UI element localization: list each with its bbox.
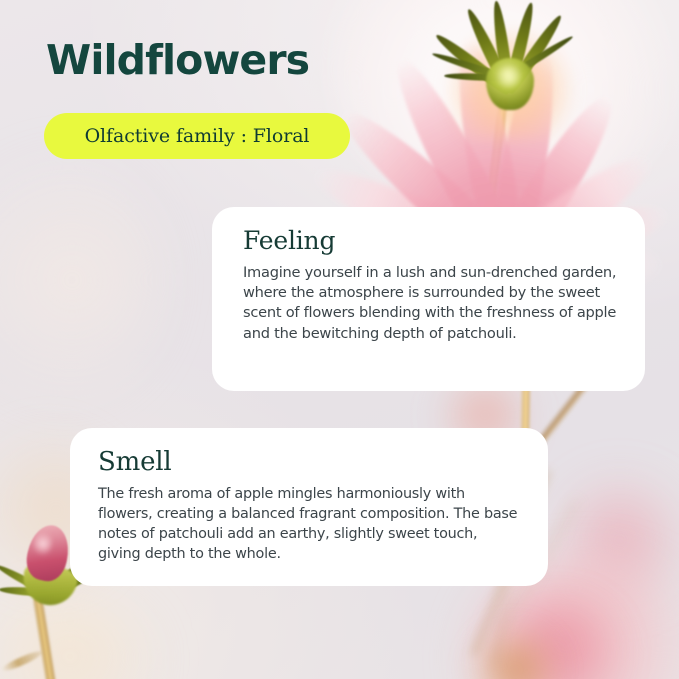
feeling-card-heading: Feeling xyxy=(243,227,617,255)
olfactive-family-label: Olfactive family : Floral xyxy=(85,125,310,147)
page-title: Wildflowers xyxy=(46,39,309,82)
content-layer: Wildflowers Olfactive family : Floral Fe… xyxy=(0,0,679,679)
feeling-card: Feeling Imagine yourself in a lush and s… xyxy=(212,207,645,391)
fragrance-description-card: Wildflowers Olfactive family : Floral Fe… xyxy=(0,0,679,679)
smell-card-heading: Smell xyxy=(98,448,520,477)
smell-card-body: The fresh aroma of apple mingles harmoni… xyxy=(98,484,520,565)
smell-card: Smell The fresh aroma of apple mingles h… xyxy=(70,428,548,586)
olfactive-family-badge: Olfactive family : Floral xyxy=(44,113,350,159)
feeling-card-body: Imagine yourself in a lush and sun-drenc… xyxy=(243,263,617,345)
